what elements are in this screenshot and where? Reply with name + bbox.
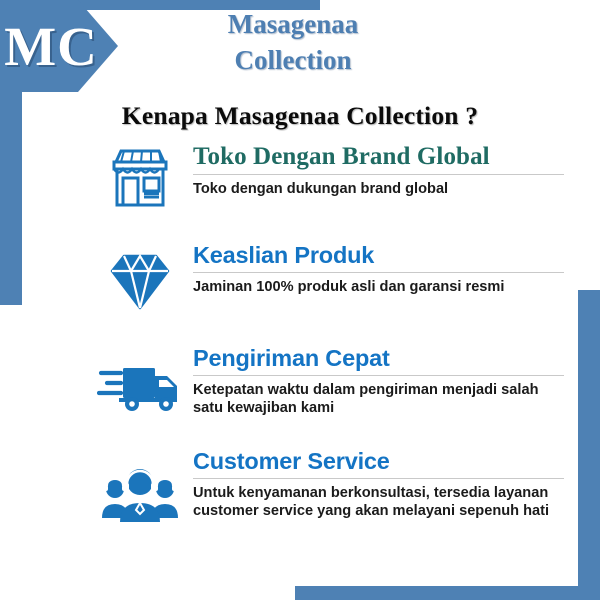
feature-heading: Toko Dengan Brand Global [193,143,564,171]
storefront-icon [95,145,185,223]
feature-heading: Keaslian Produk [193,243,564,269]
delivery-truck-icon [95,360,185,438]
diamond-icon [95,251,185,329]
brand-name: Masagenaa Collection [133,7,453,78]
feature-heading: Customer Service [193,449,564,475]
feature-item: Customer Service Untuk kenyamanan berkon… [0,449,600,559]
page-title: Kenapa Masagenaa Collection ? [0,101,600,131]
feature-description: Jaminan 100% produk asli dan garansi res… [193,278,564,297]
feature-list: Toko Dengan Brand Global Toko dengan duk… [0,143,600,559]
feature-description: Ketepatan waktu dalam pengiriman menjadi… [193,381,564,418]
feature-text: Keaslian Produk Jaminan 100% produk asli… [193,243,564,296]
feature-text: Pengiriman Cepat Ketepatan waktu dalam p… [193,346,564,418]
feature-item: Pengiriman Cepat Ketepatan waktu dalam p… [0,346,600,449]
promo-poster: MC Masagenaa Collection Kenapa Masagenaa… [0,0,600,600]
brand-name-line-2: Collection [133,43,453,79]
feature-description: Toko dengan dukungan brand global [193,180,564,199]
feature-description: Untuk kenyamanan berkonsultasi, tersedia… [193,484,564,521]
feature-divider [193,375,564,376]
feature-item: Keaslian Produk Jaminan 100% produk asli… [0,243,600,346]
brand-name-line-1: Masagenaa [228,9,359,39]
feature-heading: Pengiriman Cepat [193,346,564,372]
decorative-bottom-bar [295,586,600,600]
feature-divider [193,272,564,273]
feature-divider [193,478,564,479]
customer-service-people-icon [95,465,185,543]
logo-initials: MC [8,12,94,80]
feature-item: Toko Dengan Brand Global Toko dengan duk… [0,143,600,243]
feature-text: Toko Dengan Brand Global Toko dengan duk… [193,143,564,198]
feature-divider [193,174,564,175]
poster-header: MC Masagenaa Collection [0,0,600,92]
feature-text: Customer Service Untuk kenyamanan berkon… [193,449,564,521]
